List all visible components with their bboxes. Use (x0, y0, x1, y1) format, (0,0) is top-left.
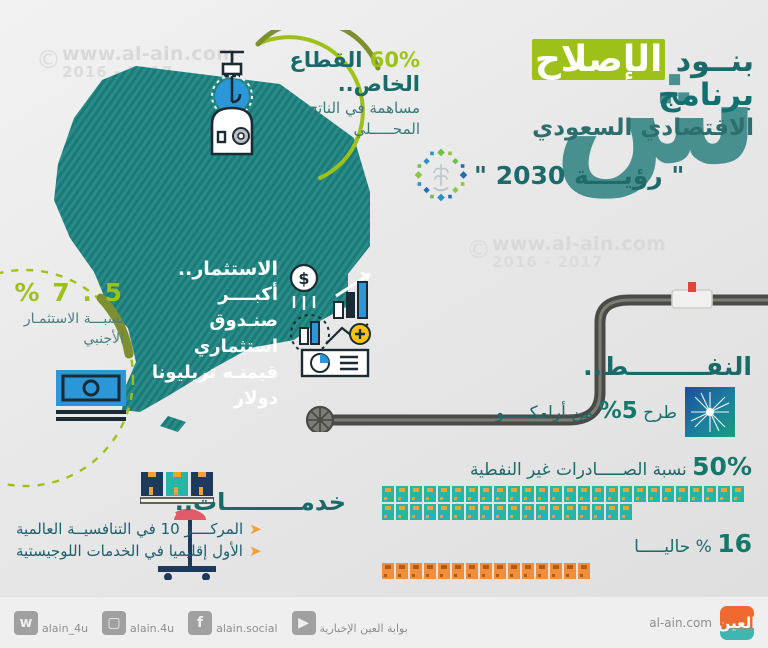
foreign-investment-value: 5 . 7 % (6, 278, 124, 307)
social-handle: بوابة العين الإخبارية (320, 622, 408, 635)
services-item-1: ➤ الأول إقليميا في الخدمات اللوجيستية (16, 542, 346, 560)
export-pictogram-unit (634, 486, 646, 502)
facebook-icon[interactable]: f (188, 611, 212, 635)
export-pictogram-unit (466, 563, 478, 579)
export-pictogram-unit (382, 486, 394, 502)
services-title: خدمـــــــــات.. (16, 488, 346, 516)
export-pictogram-unit (536, 563, 548, 579)
social-handle: alain.4u (130, 622, 174, 635)
red-tap-handle-icon (672, 282, 712, 308)
watermark-years: 2016 - 2017 (492, 255, 666, 271)
oil-aramco-after: من أرامكـــــو (496, 403, 593, 423)
export-pictogram-unit (704, 486, 716, 502)
export-pictogram-unit (424, 486, 436, 502)
export-pictogram-unit (536, 486, 548, 502)
export-pictogram-unit (452, 486, 464, 502)
export-pictogram-unit (508, 563, 520, 579)
export-pictogram-unit (550, 504, 562, 520)
foreign-investment-label: نسبـــة الاستثمـار الأجنبي (6, 309, 124, 350)
arrow-left-icon: ➤ (249, 520, 262, 538)
oil-aramco-before: طرح (643, 403, 677, 423)
social-link-instagram[interactable]: ▢ alain.4u (102, 611, 174, 635)
investment-body: أكبــــر صنـدوق استثماري قيمتـه تريليونا… (148, 282, 278, 412)
export-pictogram-unit (452, 504, 464, 520)
private-sector-subtitle: مساهمة في الناتج المحـــــلي (240, 98, 420, 139)
brand-block[interactable]: al-ain.com العين (649, 606, 754, 640)
foreign-investment-block: 5 . 7 % نسبـــة الاستثمـار الأجنبي (6, 278, 124, 350)
private-sector-block: 60% القطاع الخاص.. مساهمة في الناتج المح… (240, 48, 420, 139)
export-pictogram-unit (410, 504, 422, 520)
instagram-icon[interactable]: ▢ (102, 611, 126, 635)
exports-target-heading: 50% نسبة الصـــــادرات غير النفطية (382, 452, 752, 481)
export-pictogram-unit (424, 563, 436, 579)
services-block: خدمـــــــــات.. ➤ المركــــز 10 في التن… (16, 488, 346, 560)
export-pictogram-unit (718, 486, 730, 502)
export-pictogram-unit (662, 486, 674, 502)
social-handle: alain_4u (42, 622, 88, 635)
infographic-title: بنــود الإصلاح برنامج الاقتصادي السعودي … (414, 42, 754, 202)
social-link-youtube[interactable]: ▶ بوابة العين الإخبارية (292, 611, 408, 635)
export-pictogram-unit (578, 563, 590, 579)
social-handle: alain.social (216, 622, 277, 635)
export-pictogram-unit (424, 504, 436, 520)
export-pictogram-unit (606, 504, 618, 520)
export-pictogram-unit (508, 486, 520, 502)
private-sector-percent: 60% (370, 48, 420, 72)
export-pictogram-unit (564, 504, 576, 520)
title-line1-prefix: بنــود (676, 44, 754, 79)
watermark-site: www.al-ain.com (492, 235, 666, 255)
services-item-0: ➤ المركــــز 10 في التنافسيــة العالمية (16, 520, 346, 538)
exports-block: 50% نسبة الصـــــادرات غير النفطية 16 % … (382, 452, 752, 579)
export-pictogram-unit (396, 563, 408, 579)
oil-title: النفـــــــــط.. (496, 352, 752, 381)
export-pictogram-unit (494, 563, 506, 579)
infographic-canvas: © www.al-ain.com 2016 - 2017 © www.al-ai… (0, 0, 768, 648)
export-pictogram-unit (676, 486, 688, 502)
social-link-facebook[interactable]: f alain.social (188, 611, 277, 635)
export-pictogram-unit (438, 486, 450, 502)
export-pictogram-unit (410, 563, 422, 579)
title-line2: برنامج (414, 80, 754, 111)
services-item-label: الأول إقليميا في الخدمات اللوجيستية (16, 542, 243, 560)
watermark-center: © www.al-ain.com 2016 - 2017 (492, 235, 666, 271)
export-pictogram-unit (550, 486, 562, 502)
title-line3: الاقتصادي السعودي (414, 117, 754, 140)
export-pictogram-unit (732, 486, 744, 502)
export-pictogram-unit (396, 504, 408, 520)
exports-target-label: نسبة الصـــــادرات غير النفطية (470, 460, 687, 480)
copyright-symbol: © (466, 237, 491, 263)
export-pictogram-unit (648, 486, 660, 502)
export-pictogram-unit (522, 563, 534, 579)
export-pictogram-unit (438, 504, 450, 520)
export-pictogram-unit (522, 486, 534, 502)
export-pictogram-unit (522, 504, 534, 520)
export-pictogram-unit (592, 486, 604, 502)
services-item-label: المركــــز 10 في التنافسيــة العالمية (16, 520, 243, 538)
export-pictogram-unit (606, 486, 618, 502)
export-pictogram-unit (578, 504, 590, 520)
title-vision-2030: " رؤيــــة 2030 " (474, 161, 684, 190)
export-pictogram-unit (480, 486, 492, 502)
valve-wheel-icon (307, 407, 333, 432)
export-pictogram-unit (578, 486, 590, 502)
oil-aramco-percent: 5% (599, 398, 638, 424)
brand-url: al-ain.com (649, 616, 712, 630)
footer-bar: w alain_4u ▢ alain.4u f alain.social ▶ ب… (0, 596, 768, 648)
exports-target-percent: 50% (692, 452, 752, 481)
exports-current-icon-grid (382, 563, 752, 579)
export-pictogram-unit (480, 563, 492, 579)
export-pictogram-unit (536, 504, 548, 520)
export-pictogram-unit (452, 563, 464, 579)
exports-current-value: 16 (717, 529, 752, 558)
export-pictogram-unit (382, 563, 394, 579)
exports-current-heading: 16 % حاليـــــا (382, 529, 752, 558)
export-pictogram-unit (592, 504, 604, 520)
export-pictogram-unit (382, 504, 394, 520)
export-pictogram-unit (410, 486, 422, 502)
export-pictogram-unit (494, 486, 506, 502)
exports-target-icon-grid (382, 486, 752, 520)
investment-title: الاستثمار.. (148, 258, 278, 282)
export-pictogram-unit (396, 486, 408, 502)
export-pictogram-unit (550, 563, 562, 579)
investment-block: الاستثمار.. أكبــــر صنـدوق استثماري قيم… (148, 258, 278, 412)
export-pictogram-unit (564, 563, 576, 579)
arrow-left-icon: ➤ (249, 542, 262, 560)
aramco-logo-icon (685, 387, 735, 437)
export-pictogram-unit (620, 504, 632, 520)
export-pictogram-unit (466, 486, 478, 502)
youtube-icon[interactable]: ▶ (292, 611, 316, 635)
export-pictogram-unit (480, 504, 492, 520)
title-keyword-reform: الإصلاح (532, 39, 665, 80)
social-link-twitter[interactable]: w alain_4u (14, 611, 88, 635)
banknote-icon (52, 368, 130, 424)
oil-block: النفـــــــــط.. (496, 352, 752, 437)
export-pictogram-unit (508, 504, 520, 520)
social-links: w alain_4u ▢ alain.4u f alain.social ▶ ب… (14, 611, 408, 635)
export-pictogram-unit (620, 486, 632, 502)
twitter-icon[interactable]: w (14, 611, 38, 635)
export-pictogram-unit (564, 486, 576, 502)
export-pictogram-unit (494, 504, 506, 520)
export-pictogram-unit (690, 486, 702, 502)
export-pictogram-unit (466, 504, 478, 520)
brand-name: العين (720, 606, 754, 640)
exports-current-label: % حاليـــــا (634, 537, 712, 557)
al-ain-logo-icon[interactable]: العين (720, 606, 754, 640)
export-pictogram-unit (438, 563, 450, 579)
